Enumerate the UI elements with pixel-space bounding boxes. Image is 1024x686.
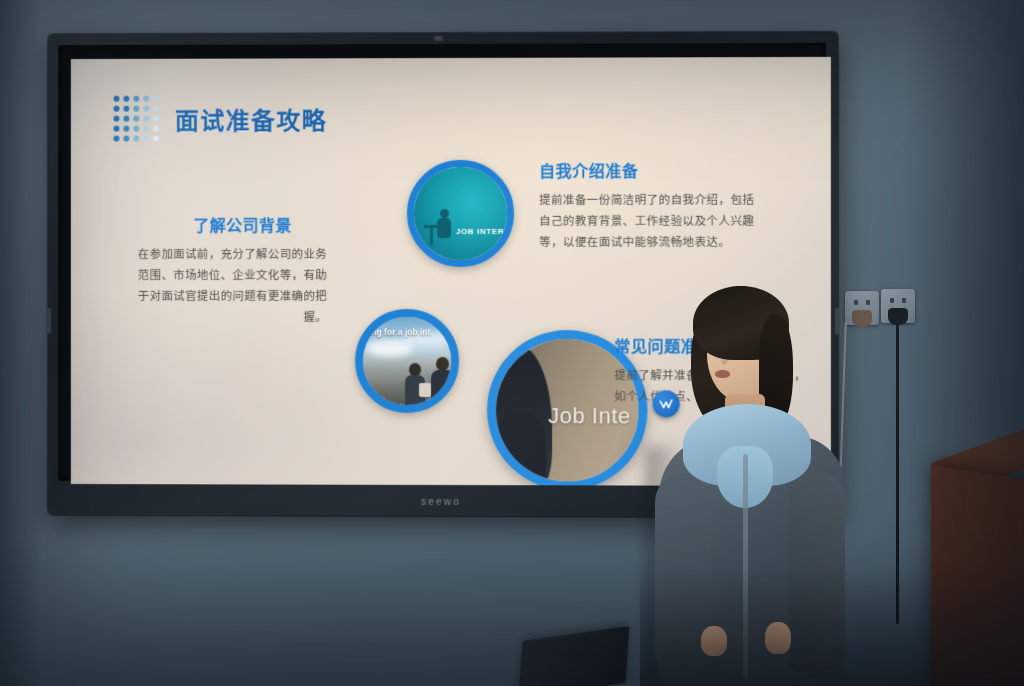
matrix-dot bbox=[123, 96, 129, 102]
text-block-company-background: 了解公司背景 在参加面试前，充分了解公司的业务范围、市场地位、企业文化等，有助于… bbox=[128, 212, 327, 329]
block-body: 在参加面试前，充分了解公司的业务范围、市场地位、企业文化等，有助于对面试官提出的… bbox=[128, 245, 327, 329]
matrix-dot bbox=[123, 136, 129, 142]
matrix-dot bbox=[113, 116, 119, 122]
matrix-dot bbox=[153, 126, 159, 132]
matrix-dot bbox=[113, 136, 119, 142]
matrix-dot bbox=[153, 96, 159, 102]
circle-image-photo: ing for a job int bbox=[363, 317, 451, 405]
block-heading: 了解公司背景 bbox=[128, 212, 327, 236]
matrix-dot bbox=[143, 126, 149, 132]
mouth bbox=[715, 370, 730, 378]
shoulder-silhouette bbox=[496, 411, 546, 481]
matrix-dot bbox=[113, 126, 119, 132]
matrix-dot bbox=[113, 106, 119, 112]
dot-matrix-decoration bbox=[113, 96, 159, 142]
slide-title: 面试准备攻略 bbox=[175, 101, 327, 136]
matrix-dot bbox=[133, 116, 139, 122]
matrix-dot bbox=[133, 96, 139, 102]
matrix-dot bbox=[143, 106, 149, 112]
camera-indicator bbox=[434, 36, 443, 41]
matrix-dot bbox=[143, 96, 149, 102]
circle-caption: ing for a job int bbox=[369, 327, 430, 337]
matrix-dot bbox=[133, 136, 139, 142]
matrix-dot bbox=[143, 116, 149, 122]
slide-header: 面试准备攻略 bbox=[113, 95, 327, 141]
floor-shadow bbox=[640, 566, 1024, 686]
power-plug-right bbox=[888, 308, 908, 325]
matrix-dot bbox=[133, 106, 139, 112]
matrix-dot bbox=[123, 126, 129, 132]
person-silhouette bbox=[431, 357, 451, 405]
matrix-dot bbox=[153, 116, 159, 122]
matrix-dot bbox=[153, 136, 159, 142]
block-body: 提前准备一份简洁明了的自我介绍，包括自己的教育背景、工作经验以及个人兴趣等，以便… bbox=[539, 191, 755, 254]
text-block-self-introduction: 自我介绍准备 提前准备一份简洁明了的自我介绍，包括自己的教育背景、工作经验以及个… bbox=[539, 158, 755, 254]
power-plug-left bbox=[852, 310, 872, 327]
bag-shape bbox=[419, 383, 431, 397]
circle-job-interview-desk[interactable]: JOB INTERV bbox=[407, 160, 514, 267]
matrix-dot bbox=[113, 96, 119, 102]
circle-image-teal: JOB INTERV bbox=[414, 167, 507, 260]
matrix-dot bbox=[153, 106, 159, 112]
block-heading: 自我介绍准备 bbox=[539, 158, 755, 182]
matrix-dot bbox=[133, 126, 139, 132]
circle-waiting-photo[interactable]: ing for a job int bbox=[355, 309, 459, 413]
matrix-dot bbox=[123, 106, 129, 112]
desk-person-silhouette-icon bbox=[426, 209, 460, 247]
circle-caption: JOB INTERV bbox=[456, 227, 507, 236]
bezel-button-left[interactable] bbox=[46, 308, 51, 334]
matrix-dot bbox=[123, 116, 129, 122]
matrix-dot bbox=[143, 136, 149, 142]
